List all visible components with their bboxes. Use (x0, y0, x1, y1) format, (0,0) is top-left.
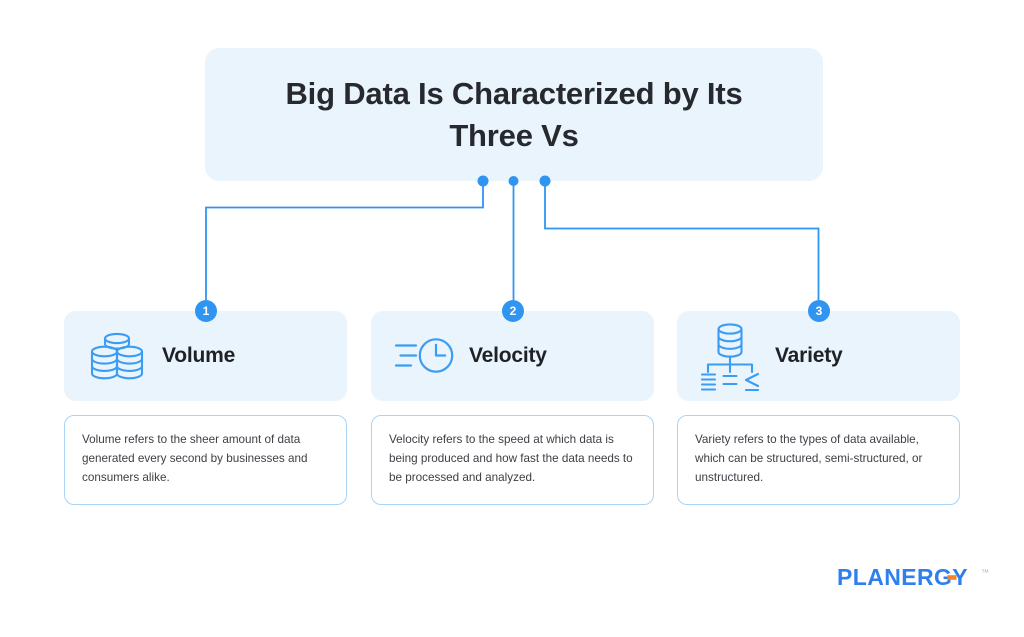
description-text-volume: Volume refers to the sheer amount of dat… (82, 431, 329, 488)
database-branching-icon (699, 325, 761, 387)
column-variety: Variety Variety refers to the types of d… (677, 311, 960, 505)
infographic-canvas: Big Data Is Characterized by Its Three V… (0, 0, 1024, 637)
stacked-database-icon (86, 325, 148, 387)
connector-path-3 (545, 181, 819, 300)
planergy-logo: PLANERGY ™ (837, 566, 989, 590)
step-badge-3: 3 (808, 300, 830, 322)
icon-card-variety: Variety (677, 311, 960, 401)
trademark-symbol: ™ (981, 568, 989, 577)
description-text-velocity: Velocity refers to the speed at which da… (389, 431, 636, 488)
page-title: Big Data Is Characterized by Its Three V… (245, 73, 783, 155)
column-label-variety: Variety (775, 344, 843, 368)
clock-speed-icon (393, 325, 455, 387)
description-card-variety: Variety refers to the types of data avai… (677, 415, 960, 505)
column-velocity: Velocity Velocity refers to the speed at… (371, 311, 654, 505)
icon-card-velocity: Velocity (371, 311, 654, 401)
step-badge-2: 2 (502, 300, 524, 322)
description-card-velocity: Velocity refers to the speed at which da… (371, 415, 654, 505)
icon-card-volume: Volume (64, 311, 347, 401)
logo-accent-icon (948, 575, 957, 580)
column-label-velocity: Velocity (469, 344, 547, 368)
column-label-volume: Volume (162, 344, 235, 368)
planergy-wordmark-icon: PLANERGY (837, 566, 979, 590)
description-card-volume: Volume refers to the sheer amount of dat… (64, 415, 347, 505)
connector-path-1 (206, 181, 483, 300)
column-volume: Volume Volume refers to the sheer amount… (64, 311, 347, 505)
description-text-variety: Variety refers to the types of data avai… (695, 431, 942, 488)
title-card: Big Data Is Characterized by Its Three V… (205, 48, 823, 181)
step-badge-1: 1 (195, 300, 217, 322)
